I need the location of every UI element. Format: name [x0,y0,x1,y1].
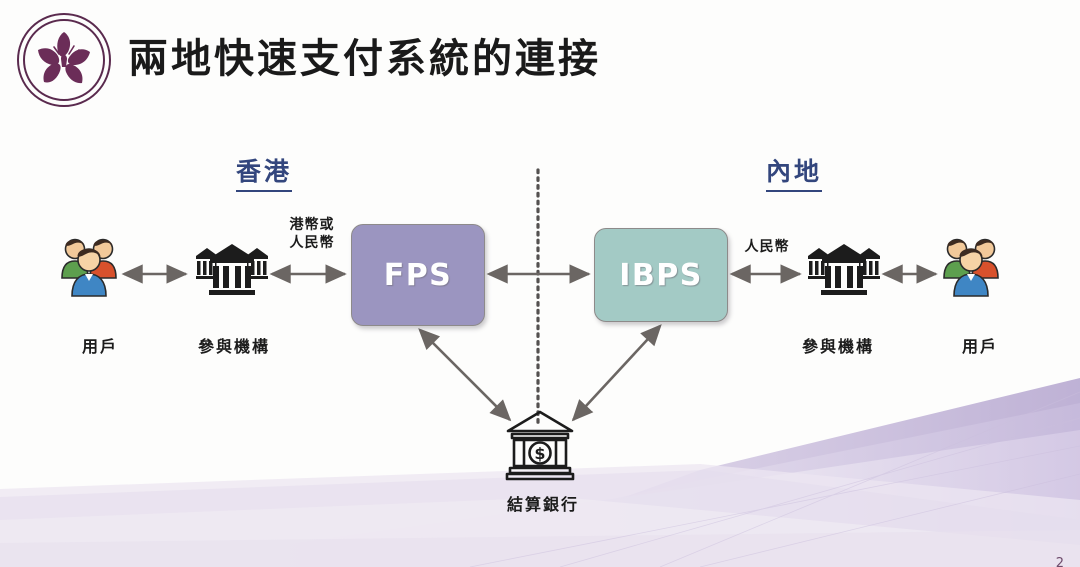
caption-user-right: 用戶 [936,333,1024,357]
arrow-ibps-settlement [573,326,660,420]
slide-canvas: 兩地快速支付系統的連接 香港 內地 [0,0,1080,567]
arrow-fps-settlement [420,330,510,420]
system-box-ibps[interactable]: IBPS [594,228,728,322]
currency-label-hong-kong: 港幣或 人民幣 [278,216,346,252]
caption-user-left: 用戶 [56,333,144,357]
region-label-mainland: 內地 [766,152,822,192]
slide-header: 兩地快速支付系統的連接 [0,0,1080,120]
currency-label-hk-line1: 港幣或 [278,216,346,234]
users-group-icon [58,233,120,303]
page-title: 兩地快速支付系統的連接 [128,26,601,84]
users-group-icon [940,233,1002,303]
currency-label-mainland: 人民幣 [733,238,801,256]
currency-label-hk-line2: 人民幣 [278,234,346,252]
caption-institution-right: 參與機構 [782,333,894,357]
caption-settlement-bank: 結算銀行 [478,491,608,515]
system-box-fps-label: FPS [384,258,453,293]
bank-dollar-icon: $ [502,409,578,481]
system-box-fps[interactable]: FPS [351,224,485,326]
page-number: 2 [1056,556,1064,567]
bank-building-icon [806,238,882,300]
region-label-hong-kong: 香港 [236,152,292,192]
hkma-bauhinia-logo [14,10,114,110]
bank-building-icon [194,238,270,300]
svg-text:$: $ [534,444,545,463]
system-box-ibps-label: IBPS [619,258,703,293]
caption-institution-left: 參與機構 [178,333,290,357]
